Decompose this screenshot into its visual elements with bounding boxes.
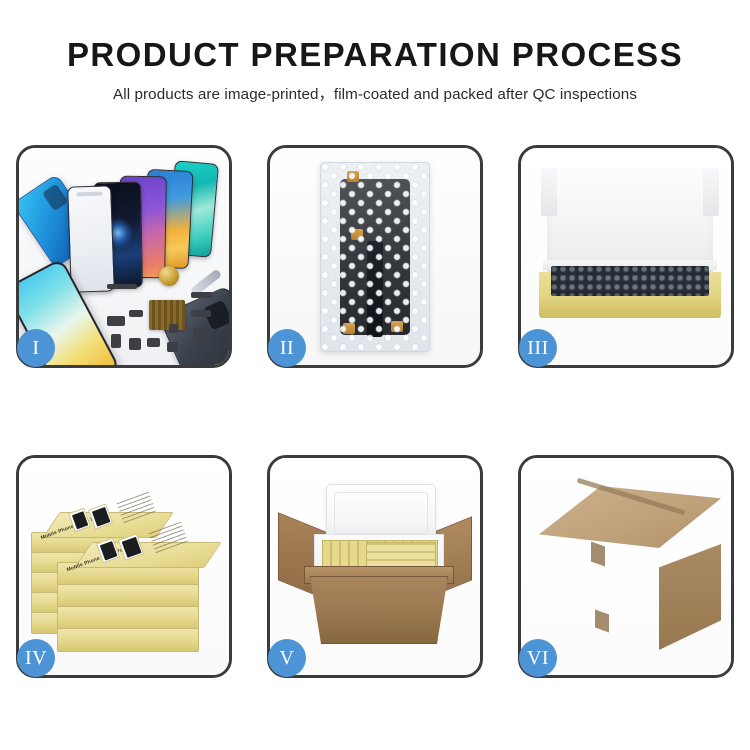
sealed-carton [539, 486, 721, 650]
spare-parts-cluster [107, 276, 225, 365]
stacked-box [57, 628, 199, 652]
part-strip [193, 328, 205, 340]
process-step-grid: I II [16, 145, 734, 678]
step-1-image [19, 148, 229, 365]
step-4-image: Mobile Phone Spare Parts Mobile Phone Sp… [19, 458, 229, 675]
part-strip [107, 284, 137, 289]
carton-side-face [659, 544, 721, 650]
circuit-board-icon [149, 300, 185, 330]
step-badge-4: IV [17, 639, 55, 677]
part-strip [129, 338, 141, 350]
step-badge-5: V [268, 639, 306, 677]
process-step-2[interactable]: II [267, 145, 483, 368]
part-strip [191, 292, 213, 298]
stacked-box [57, 584, 199, 608]
header: PRODUCT PREPARATION PROCESS All products… [0, 0, 750, 104]
step-6-image [521, 458, 731, 675]
process-step-5[interactable]: V [267, 455, 483, 678]
foam-lid [547, 168, 713, 272]
gold-chip-icon [159, 266, 179, 286]
stacked-box [57, 606, 199, 630]
page-subtitle: All products are image-printed，film-coat… [0, 82, 750, 104]
carton-body [310, 576, 448, 644]
part-strip [167, 342, 178, 352]
part-strip [107, 316, 125, 326]
part-strip [147, 338, 160, 347]
page-title: PRODUCT PREPARATION PROCESS [0, 38, 750, 73]
part-strip [129, 310, 143, 317]
part-strip [111, 334, 121, 348]
step-badge-2: II [268, 329, 306, 367]
process-step-3[interactable]: III [518, 145, 734, 368]
step-badge-1: I [17, 329, 55, 367]
bubble-wrapped-contents [551, 266, 709, 296]
step-5-image [270, 458, 480, 675]
product-preparation-infographic: PRODUCT PREPARATION PROCESS All products… [0, 0, 750, 750]
process-step-6[interactable]: VI [518, 455, 734, 678]
part-strip [191, 310, 211, 317]
step-3-image [521, 148, 731, 365]
part-strip [169, 324, 178, 333]
bubble-wrap-bag [320, 162, 430, 352]
bubble-texture [321, 163, 429, 351]
process-step-4[interactable]: Mobile Phone Spare Parts Mobile Phone Sp… [16, 455, 232, 678]
step-2-image [270, 148, 480, 365]
process-step-1[interactable]: I [16, 145, 232, 368]
step-badge-6: VI [519, 639, 557, 677]
box-stack: Mobile Phone Spare Parts Mobile Phone Sp… [27, 480, 227, 660]
step-badge-3: III [519, 329, 557, 367]
